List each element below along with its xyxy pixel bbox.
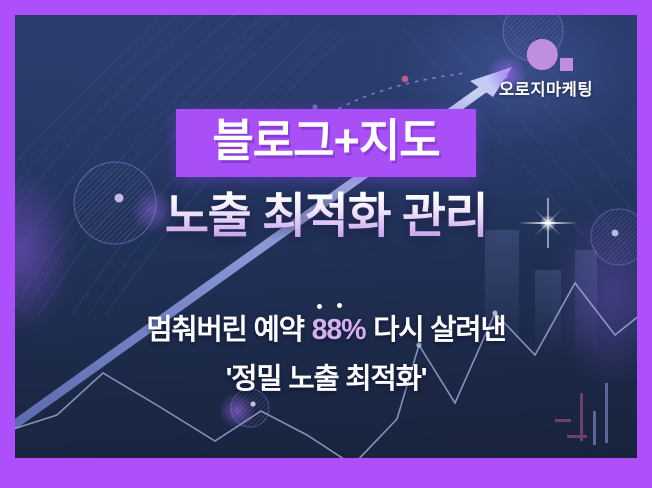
subcopy-line1-after: 다시 살려낸 [366, 314, 505, 346]
marketing-banner: 오로지마케팅 블로그+지도 노출 최적화 관리 멈춰버린 예약 88% 다시 살… [0, 0, 652, 488]
headline-tag-label: 블로그+지도 [212, 118, 439, 164]
brand-logo: 오로지마케팅 [481, 39, 611, 100]
subcopy-line1-before: 멈춰버린 예약 [146, 314, 310, 346]
subcopy-block: 멈춰버린 예약 88% 다시 살려낸 '정밀 노출 최적화' [15, 313, 637, 397]
banner-stage: 오로지마케팅 블로그+지도 노출 최적화 관리 멈춰버린 예약 88% 다시 살… [15, 15, 637, 458]
logo-square-icon [560, 58, 573, 71]
subcopy-line-1: 멈춰버린 예약 88% 다시 살려낸 [15, 313, 637, 347]
page-title: 노출 최적화 관리 [15, 191, 637, 244]
logo-circle-icon [527, 39, 558, 70]
logo-text: 오로지마케팅 [481, 76, 611, 100]
headline-block: 블로그+지도 노출 최적화 관리 [15, 109, 637, 244]
subcopy-line-2: '정밀 노출 최적화' [15, 356, 637, 397]
headline-tag-badge: 블로그+지도 [176, 109, 475, 177]
stat-highlight-88-percent: 88% [311, 313, 367, 347]
logo-mark [481, 39, 611, 73]
